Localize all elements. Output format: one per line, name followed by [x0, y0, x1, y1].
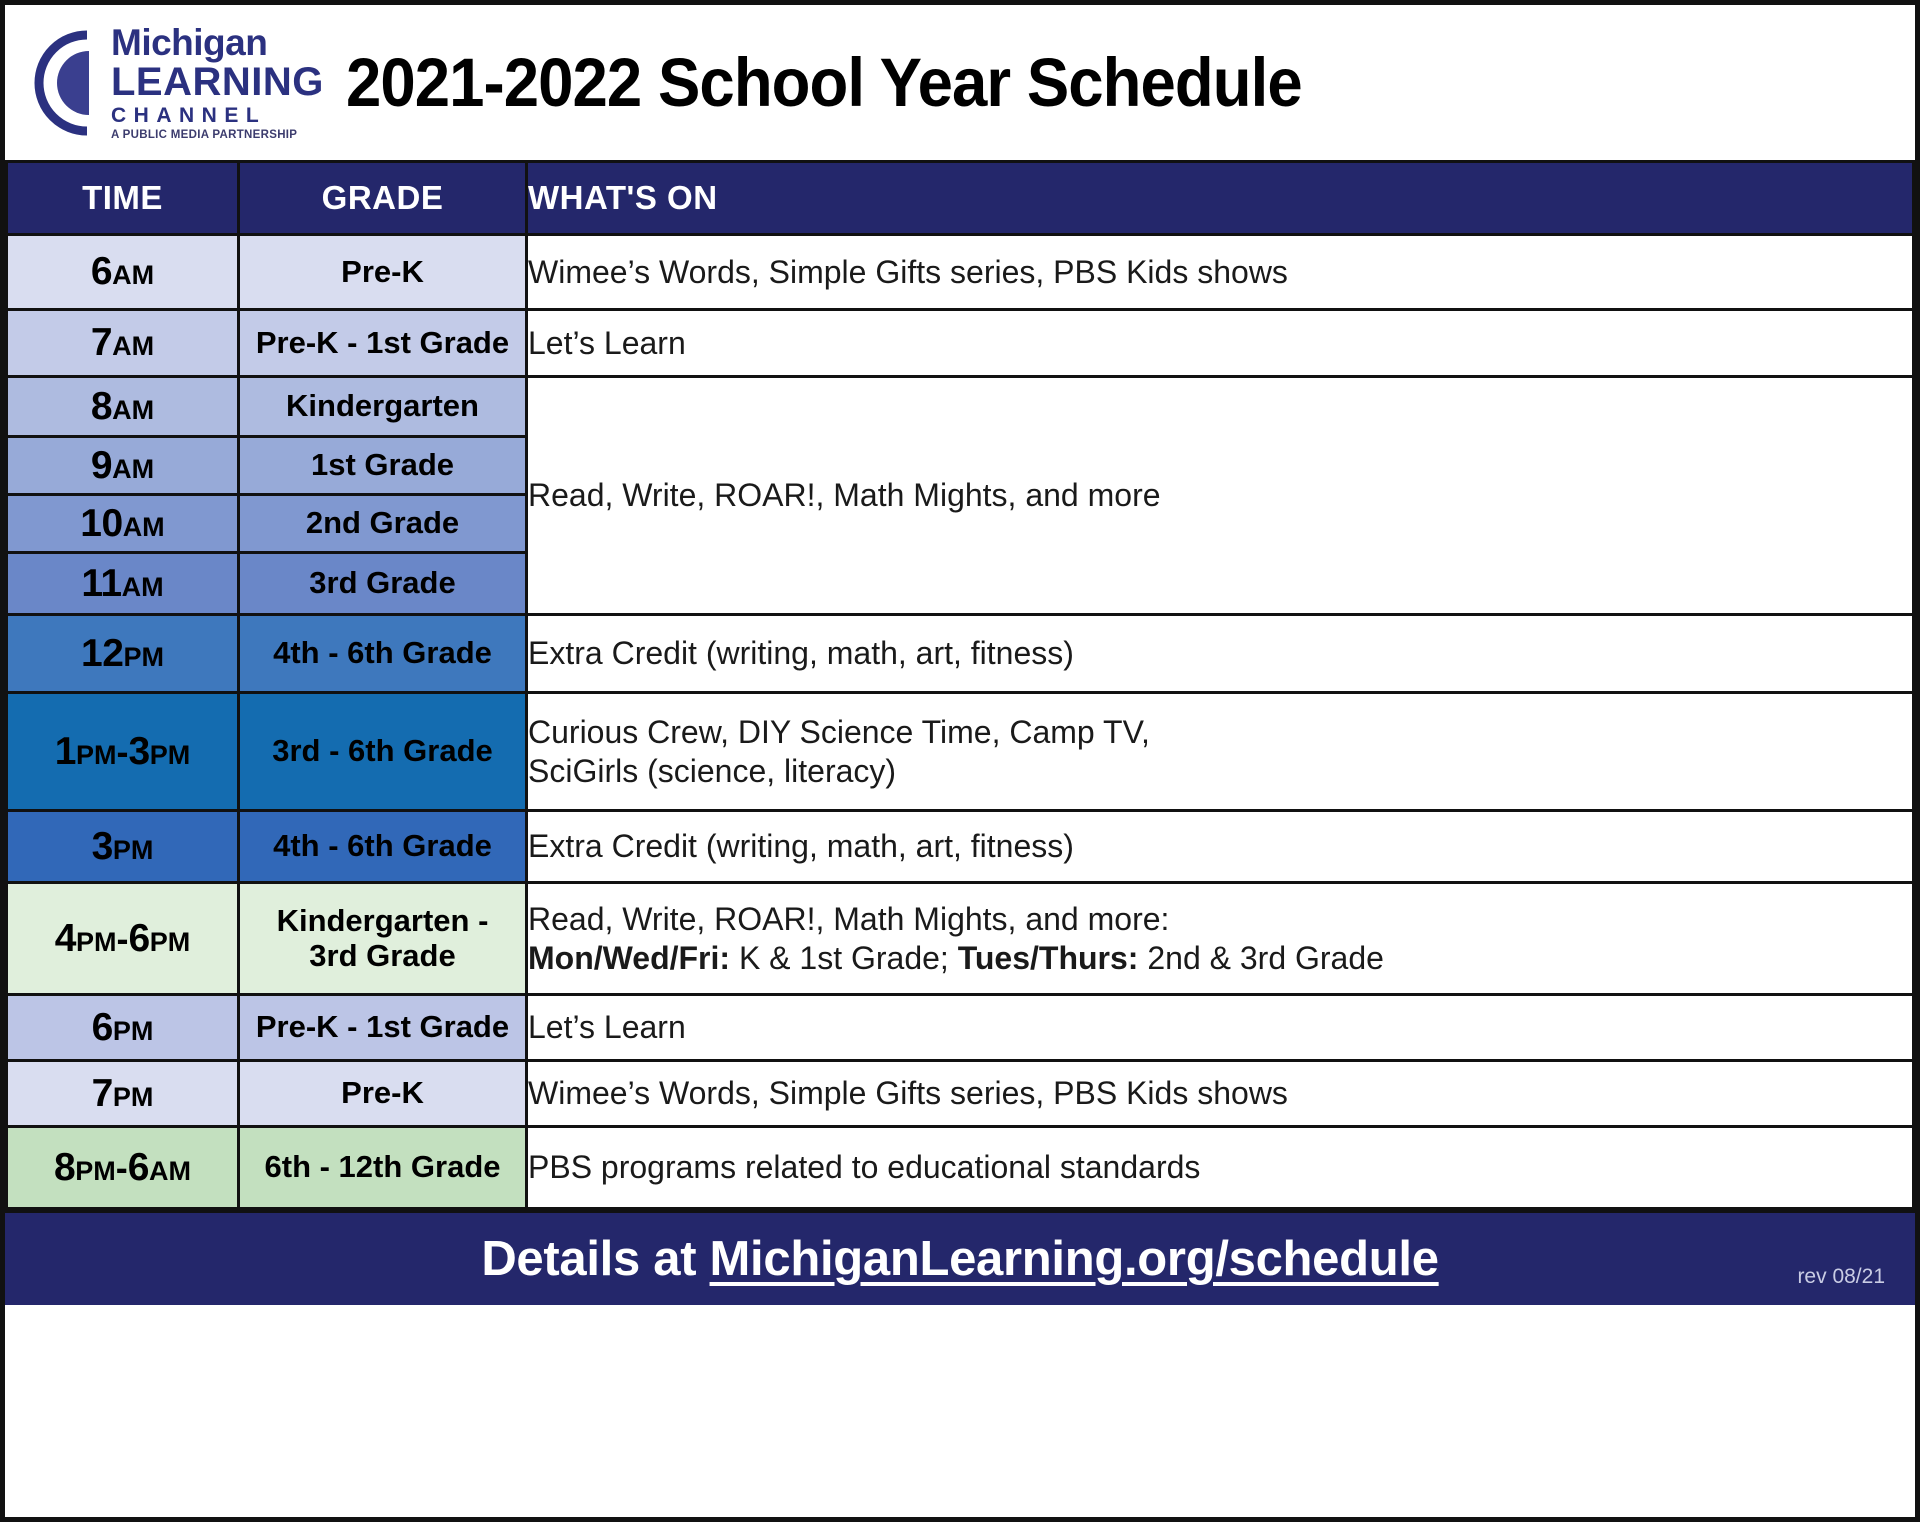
footer-prefix: Details at — [481, 1232, 709, 1286]
time-cell: 10AM — [7, 495, 239, 553]
table-row: 4PM-6PM Kindergarten - 3rd Grade Read, W… — [7, 883, 1914, 995]
table-row: 8AM Kindergarten Read, Write, ROAR!, Mat… — [7, 377, 1914, 437]
schedule-table: TIME GRADE WHAT'S ON 6AM Pre-K Wimee’s W… — [5, 160, 1915, 1210]
logo-wordmark: Michigan LEARNING CHANNEL A PUBLIC MEDIA… — [111, 24, 324, 142]
time-cell: 8PM-6AM — [7, 1127, 239, 1209]
time-meridiem: PM — [123, 642, 164, 672]
logo-c-arc-icon — [27, 29, 111, 137]
grade-cell: 3rd Grade — [239, 553, 527, 615]
grade-cell: Pre-K — [239, 235, 527, 310]
time-cell: 4PM-6PM — [7, 883, 239, 995]
time-meridiem: AM — [112, 454, 154, 484]
whats-on-cell: Curious Crew, DIY Science Time, Camp TV,… — [527, 693, 1914, 811]
whats-on-cell: Extra Credit (writing, math, art, fitnes… — [527, 811, 1914, 883]
time-cell: 6PM — [7, 995, 239, 1061]
time-range-dash: - — [117, 731, 129, 772]
column-header-whats-on: WHAT'S ON — [527, 162, 1914, 235]
time-cell: 9AM — [7, 437, 239, 495]
grade-cell: Kindergarten — [239, 377, 527, 437]
grade-cell: 1st Grade — [239, 437, 527, 495]
table-row: 7PM Pre-K Wimee’s Words, Simple Gifts se… — [7, 1061, 1914, 1127]
time-meridiem: PM — [75, 1156, 116, 1186]
revision-label: rev 08/21 — [1797, 1265, 1885, 1289]
time-cell: 12PM — [7, 615, 239, 693]
time-number: 8 — [91, 385, 112, 428]
time-meridiem: PM — [76, 740, 117, 770]
poster-footer: Details at MichiganLearning.org/schedule… — [5, 1210, 1915, 1305]
time-meridiem-end: PM — [150, 740, 191, 770]
time-range-dash: - — [117, 918, 129, 959]
table-row: 1PM-3PM 3rd - 6th Grade Curious Crew, DI… — [7, 693, 1914, 811]
michigan-learning-channel-logo: Michigan LEARNING CHANNEL A PUBLIC MEDIA… — [27, 24, 324, 142]
grade-cell: 3rd - 6th Grade — [239, 693, 527, 811]
footer-details-text: Details at MichiganLearning.org/schedule — [481, 1231, 1438, 1287]
grade-line-2: 3rd Grade — [240, 939, 525, 974]
whats-on-line-1: Curious Crew, DIY Science Time, Camp TV, — [528, 713, 1912, 751]
time-range-dash: - — [116, 1147, 128, 1188]
time-number: 4 — [55, 917, 76, 960]
time-cell: 8AM — [7, 377, 239, 437]
grade-cell: Pre-K — [239, 1061, 527, 1127]
grade-cell: 6th - 12th Grade — [239, 1127, 527, 1209]
grade-cell: Kindergarten - 3rd Grade — [239, 883, 527, 995]
time-meridiem-end: PM — [150, 927, 191, 957]
time-number: 10 — [80, 502, 122, 545]
time-meridiem: PM — [76, 927, 117, 957]
table-header-row: TIME GRADE WHAT'S ON — [7, 162, 1914, 235]
column-header-grade: GRADE — [239, 162, 527, 235]
time-meridiem: AM — [123, 512, 165, 542]
time-number: 7 — [92, 1072, 113, 1115]
time-cell: 1PM-3PM — [7, 693, 239, 811]
grade-cell: 4th - 6th Grade — [239, 811, 527, 883]
time-number: 8 — [54, 1146, 75, 1189]
time-number-end: 3 — [129, 730, 150, 773]
logo-line-michigan: Michigan — [111, 24, 324, 61]
whats-on-cell: Let’s Learn — [527, 995, 1914, 1061]
whats-on-cell: Wimee’s Words, Simple Gifts series, PBS … — [527, 1061, 1914, 1127]
time-meridiem: PM — [113, 1016, 154, 1046]
time-number: 6 — [92, 1006, 113, 1049]
time-meridiem: PM — [113, 835, 154, 865]
time-number-end: 6 — [128, 1146, 149, 1189]
time-cell: 7AM — [7, 310, 239, 377]
time-number: 12 — [81, 632, 123, 675]
whats-on-line-2: Mon/Wed/Fri: K & 1st Grade; Tues/Thurs: … — [528, 939, 1912, 977]
time-meridiem: AM — [112, 260, 154, 290]
table-row: 3PM 4th - 6th Grade Extra Credit (writin… — [7, 811, 1914, 883]
grade-line-1: Kindergarten - — [240, 904, 525, 939]
grade-cell: Pre-K - 1st Grade — [239, 310, 527, 377]
time-number: 9 — [91, 444, 112, 487]
whats-on-cell: Let’s Learn — [527, 310, 1914, 377]
table-row: 12PM 4th - 6th Grade Extra Credit (writi… — [7, 615, 1914, 693]
page-title: 2021-2022 School Year Schedule — [346, 43, 1302, 122]
whats-on-line-2: SciGirls (science, literacy) — [528, 752, 1912, 790]
whats-on-cell: Wimee’s Words, Simple Gifts series, PBS … — [527, 235, 1914, 310]
whats-on-cell: PBS programs related to educational stan… — [527, 1127, 1914, 1209]
grade-cell: Pre-K - 1st Grade — [239, 995, 527, 1061]
time-meridiem: PM — [113, 1082, 154, 1112]
whats-on-cell: Extra Credit (writing, math, art, fitnes… — [527, 615, 1914, 693]
time-number-end: 6 — [129, 917, 150, 960]
weekday-detail-mwf: K & 1st Grade; — [730, 940, 958, 976]
table-row: 8PM-6AM 6th - 12th Grade PBS programs re… — [7, 1127, 1914, 1209]
poster-header: Michigan LEARNING CHANNEL A PUBLIC MEDIA… — [5, 5, 1915, 160]
schedule-poster: Michigan LEARNING CHANNEL A PUBLIC MEDIA… — [0, 0, 1920, 1522]
time-cell: 6AM — [7, 235, 239, 310]
time-cell: 11AM — [7, 553, 239, 615]
table-row: 6PM Pre-K - 1st Grade Let’s Learn — [7, 995, 1914, 1061]
grade-cell: 4th - 6th Grade — [239, 615, 527, 693]
table-row: 7AM Pre-K - 1st Grade Let’s Learn — [7, 310, 1914, 377]
time-number: 7 — [91, 321, 112, 364]
whats-on-cell: Read, Write, ROAR!, Math Mights, and mor… — [527, 883, 1914, 995]
logo-line-learning: LEARNING — [111, 62, 324, 102]
time-meridiem: AM — [122, 572, 164, 602]
logo-line-channel: CHANNEL — [111, 105, 324, 126]
time-number: 1 — [55, 730, 76, 773]
whats-on-cell-merged: Read, Write, ROAR!, Math Mights, and mor… — [527, 377, 1914, 615]
weekday-detail-tth: 2nd & 3rd Grade — [1138, 940, 1383, 976]
column-header-time: TIME — [7, 162, 239, 235]
schedule-url-link[interactable]: MichiganLearning.org/schedule — [710, 1232, 1439, 1286]
time-meridiem: AM — [112, 331, 154, 361]
time-number: 11 — [81, 562, 121, 605]
weekday-label-mwf: Mon/Wed/Fri: — [528, 940, 730, 976]
time-meridiem-end: AM — [149, 1156, 191, 1186]
time-number: 6 — [91, 250, 112, 293]
grade-cell: 2nd Grade — [239, 495, 527, 553]
time-number: 3 — [92, 825, 113, 868]
table-row: 6AM Pre-K Wimee’s Words, Simple Gifts se… — [7, 235, 1914, 310]
time-cell: 7PM — [7, 1061, 239, 1127]
logo-tagline: A PUBLIC MEDIA PARTNERSHIP — [111, 130, 324, 142]
weekday-label-tth: Tues/Thurs: — [958, 940, 1139, 976]
time-meridiem: AM — [112, 395, 154, 425]
whats-on-line-1: Read, Write, ROAR!, Math Mights, and mor… — [528, 900, 1912, 938]
time-cell: 3PM — [7, 811, 239, 883]
